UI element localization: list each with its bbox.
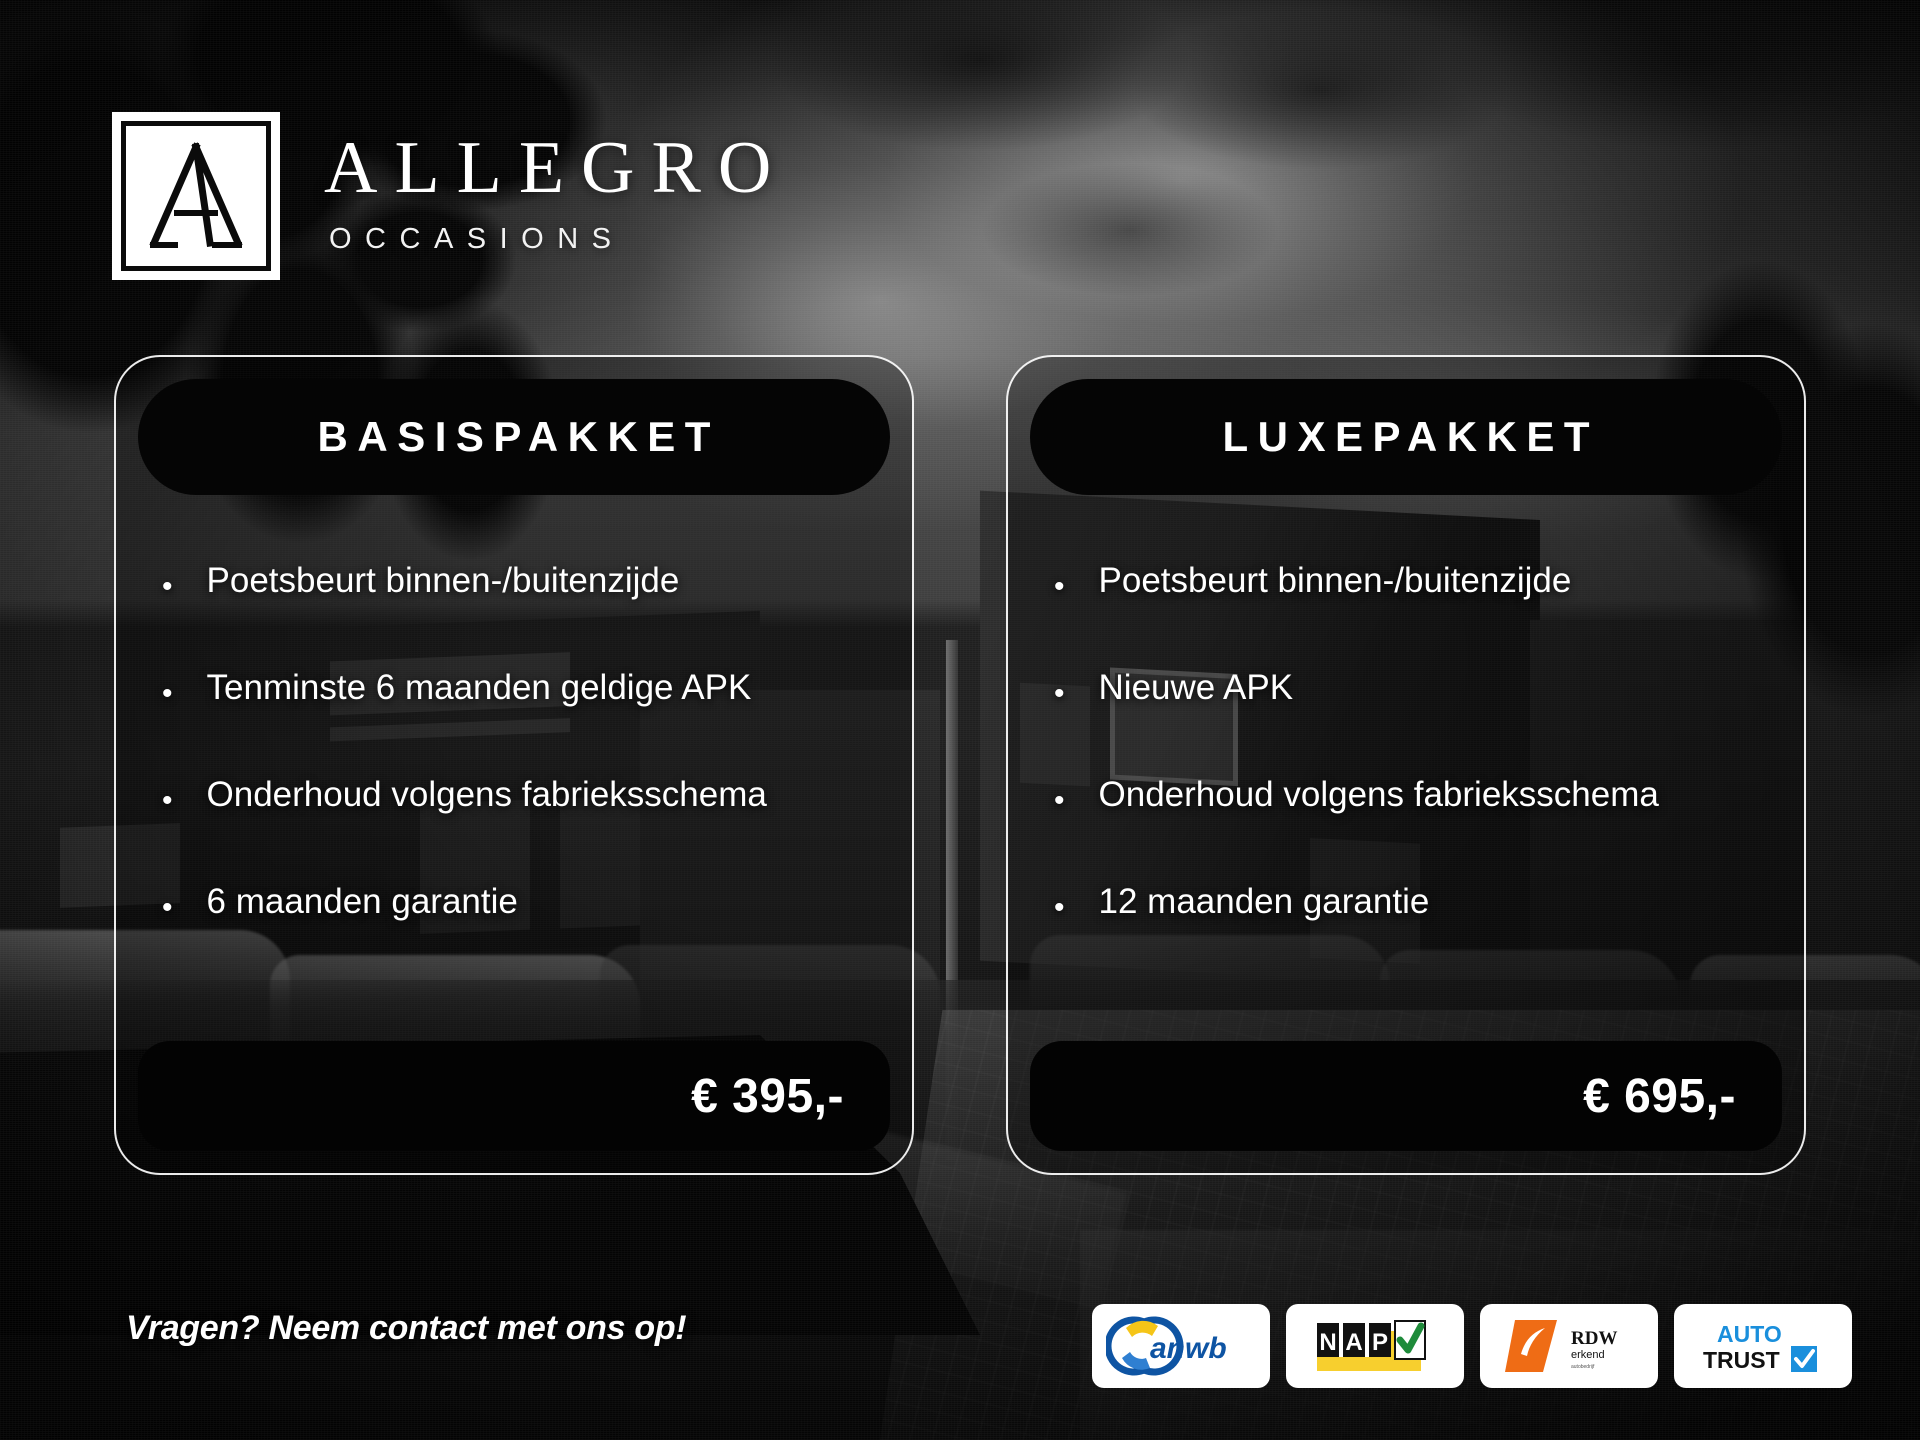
bullet-icon: • <box>162 668 173 709</box>
package-title-luxe: LUXEPAKKET <box>1213 413 1599 461</box>
contact-cta[interactable]: Vragen? Neem contact met ons op! <box>126 1309 686 1348</box>
feature-text: Tenminste 6 maanden geldige APK <box>207 668 752 707</box>
package-price-luxe: € 695,- <box>1583 1069 1736 1124</box>
brand-wordmark: ALLEGRO OCCASIONS <box>324 131 788 262</box>
svg-text:RDW: RDW <box>1571 1328 1617 1349</box>
feature-item: • Tenminste 6 maanden geldige APK <box>162 668 880 709</box>
bullet-icon: • <box>1054 775 1065 816</box>
feature-item: • Poetsbeurt binnen-/buitenzijde <box>1054 561 1772 602</box>
feature-item: • Poetsbeurt binnen-/buitenzijde <box>162 561 880 602</box>
bullet-icon: • <box>1054 668 1065 709</box>
svg-text:anwb: anwb <box>1150 1332 1227 1365</box>
brand-tagline: OCCASIONS <box>329 223 788 256</box>
feature-text: Poetsbeurt binnen-/buitenzijde <box>207 561 680 600</box>
package-card-basis[interactable]: BASISPAKKET • Poetsbeurt binnen-/buitenz… <box>114 355 914 1175</box>
package-features-basis: • Poetsbeurt binnen-/buitenzijde • Tenmi… <box>138 495 890 1041</box>
bullet-icon: • <box>162 561 173 602</box>
package-price-basis: € 395,- <box>691 1069 844 1124</box>
nap-logo-icon: N A P <box>1286 1304 1464 1388</box>
logo-mark-box <box>112 112 280 280</box>
feature-item: • 6 maanden garantie <box>162 882 880 923</box>
svg-text:TRUST: TRUST <box>1703 1347 1780 1373</box>
svg-text:P: P <box>1372 1329 1388 1356</box>
feature-item: • 12 maanden garantie <box>1054 882 1772 923</box>
feature-text: Onderhoud volgens fabrieksschema <box>207 775 767 814</box>
bullet-icon: • <box>1054 882 1065 923</box>
svg-text:N: N <box>1319 1329 1336 1356</box>
package-title-basis: BASISPAKKET <box>308 413 720 461</box>
svg-text:autobedrijf: autobedrijf <box>1571 1364 1595 1370</box>
autotrust-logo-icon: AUTO TRUST <box>1674 1304 1852 1388</box>
brand-logo: ALLEGRO OCCASIONS <box>112 112 788 280</box>
package-header-luxe: LUXEPAKKET <box>1030 379 1782 495</box>
rdw-erkend-logo-icon: RDW erkend autobedrijf <box>1480 1304 1658 1388</box>
feature-text: 6 maanden garantie <box>207 882 518 921</box>
letter-a-monogram-icon <box>121 121 271 271</box>
package-price-bar-luxe: € 695,- <box>1030 1041 1782 1151</box>
feature-item: • Nieuwe APK <box>1054 668 1772 709</box>
brand-name: ALLEGRO <box>324 131 788 205</box>
svg-text:A: A <box>1345 1329 1362 1356</box>
package-header-basis: BASISPAKKET <box>138 379 890 495</box>
svg-text:erkend: erkend <box>1571 1349 1605 1361</box>
package-price-bar-basis: € 395,- <box>138 1041 890 1151</box>
package-features-luxe: • Poetsbeurt binnen-/buitenzijde • Nieuw… <box>1030 495 1782 1041</box>
feature-text: 12 maanden garantie <box>1099 882 1430 921</box>
poster-root: ALLEGRO OCCASIONS BASISPAKKET • Poetsbeu… <box>0 0 1920 1440</box>
bullet-icon: • <box>162 882 173 923</box>
svg-text:AUTO: AUTO <box>1717 1321 1782 1347</box>
package-cards: BASISPAKKET • Poetsbeurt binnen-/buitenz… <box>0 355 1920 1175</box>
feature-text: Poetsbeurt binnen-/buitenzijde <box>1099 561 1572 600</box>
feature-text: Nieuwe APK <box>1099 668 1294 707</box>
certification-badges: anwb N A P <box>1092 1304 1852 1388</box>
feature-text: Onderhoud volgens fabrieksschema <box>1099 775 1659 814</box>
poster-footer: Vragen? Neem contact met ons op! anwb <box>0 1210 1920 1440</box>
bullet-icon: • <box>162 775 173 816</box>
package-card-luxe[interactable]: LUXEPAKKET • Poetsbeurt binnen-/buitenzi… <box>1006 355 1806 1175</box>
feature-item: • Onderhoud volgens fabrieksschema <box>1054 775 1772 816</box>
bullet-icon: • <box>1054 561 1065 602</box>
feature-item: • Onderhoud volgens fabrieksschema <box>162 775 880 816</box>
anwb-logo-icon: anwb <box>1092 1304 1270 1388</box>
